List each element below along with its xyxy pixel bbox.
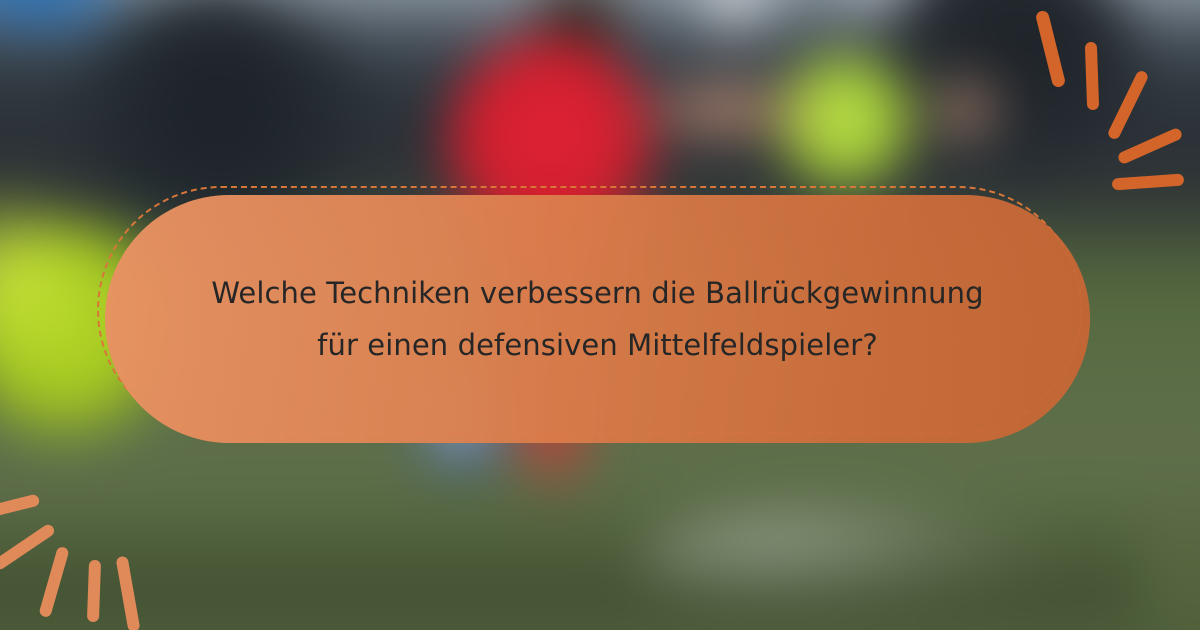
background-blob-player-skin <box>925 70 1005 150</box>
question-card: Welche Techniken verbessern die Ballrück… <box>105 195 1090 443</box>
question-line-2: für einen defensiven Mittelfeldspieler? <box>158 319 1038 371</box>
background-blob-player-arm <box>630 75 820 145</box>
ray-stroke <box>0 522 56 571</box>
ray-stroke <box>1106 69 1149 141</box>
question-line-1: Welche Techniken verbessern die Ballrück… <box>158 267 1038 319</box>
ray-stroke <box>1116 127 1183 166</box>
ray-stroke <box>115 556 140 630</box>
ray-stroke <box>1085 42 1099 110</box>
ray-stroke <box>1035 10 1066 89</box>
ray-stroke <box>38 546 69 619</box>
ray-stroke <box>0 493 40 522</box>
ray-stroke <box>87 560 101 622</box>
sunburst-rays-bottom-left-icon <box>2 464 177 624</box>
social-card-image: Welche Techniken verbessern die Ballrück… <box>0 0 1200 630</box>
sunburst-rays-top-right-icon <box>1016 6 1186 171</box>
question-text: Welche Techniken verbessern die Ballrück… <box>158 267 1038 371</box>
